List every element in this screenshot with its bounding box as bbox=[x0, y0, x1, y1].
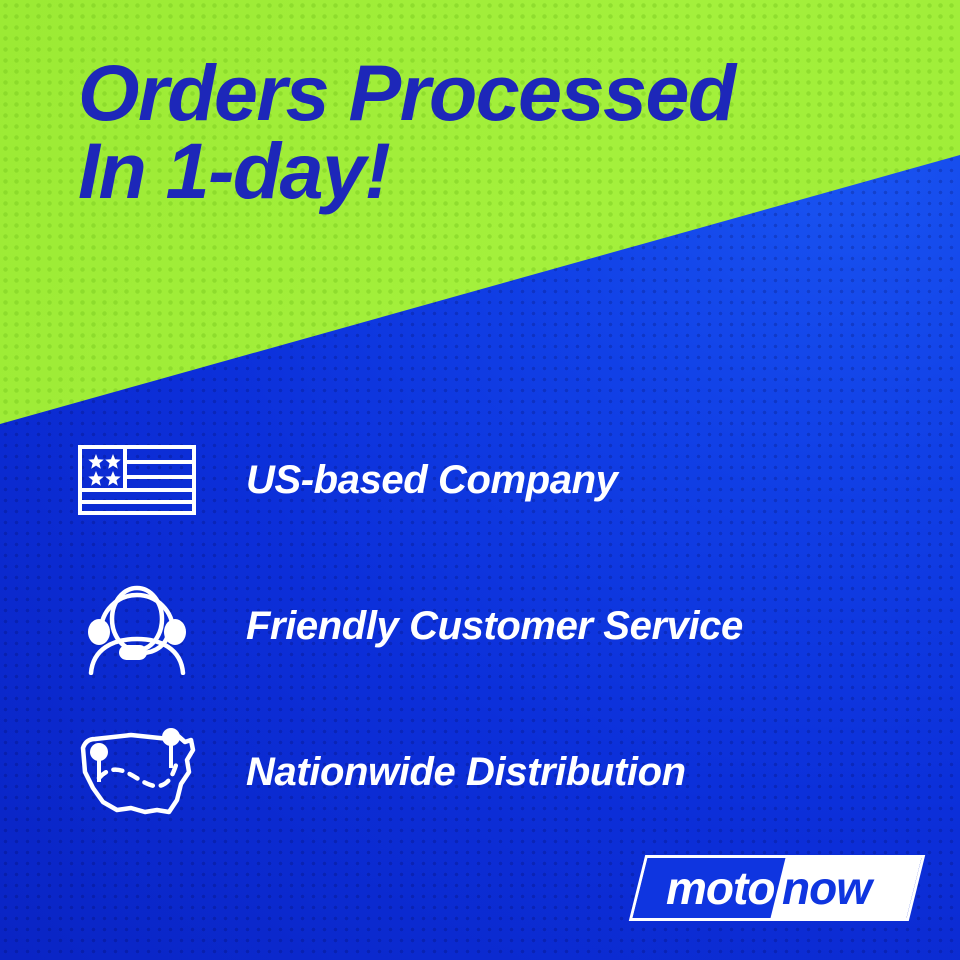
feature-row: US-based Company bbox=[0, 430, 960, 576]
logo-word-now: now bbox=[782, 865, 871, 911]
us-flag-icon bbox=[72, 430, 202, 530]
feature-label: Friendly Customer Service bbox=[246, 576, 743, 676]
headset-support-icon bbox=[72, 576, 202, 676]
us-map-route-icon bbox=[72, 722, 202, 822]
feature-label: Nationwide Distribution bbox=[246, 722, 686, 822]
promo-graphic: Orders Processed In 1-day! bbox=[0, 0, 960, 960]
logo-left-section: moto bbox=[633, 858, 786, 918]
motonow-logo: moto now bbox=[629, 855, 925, 921]
feature-row: Nationwide Distribution bbox=[0, 722, 960, 868]
headline: Orders Processed In 1-day! bbox=[78, 54, 908, 210]
feature-list: US-based Company bbox=[0, 430, 960, 868]
logo-word-moto: moto bbox=[666, 865, 774, 911]
feature-label: US-based Company bbox=[246, 430, 617, 530]
logo-right-section: now bbox=[771, 858, 922, 918]
feature-row: Friendly Customer Service bbox=[0, 576, 960, 722]
